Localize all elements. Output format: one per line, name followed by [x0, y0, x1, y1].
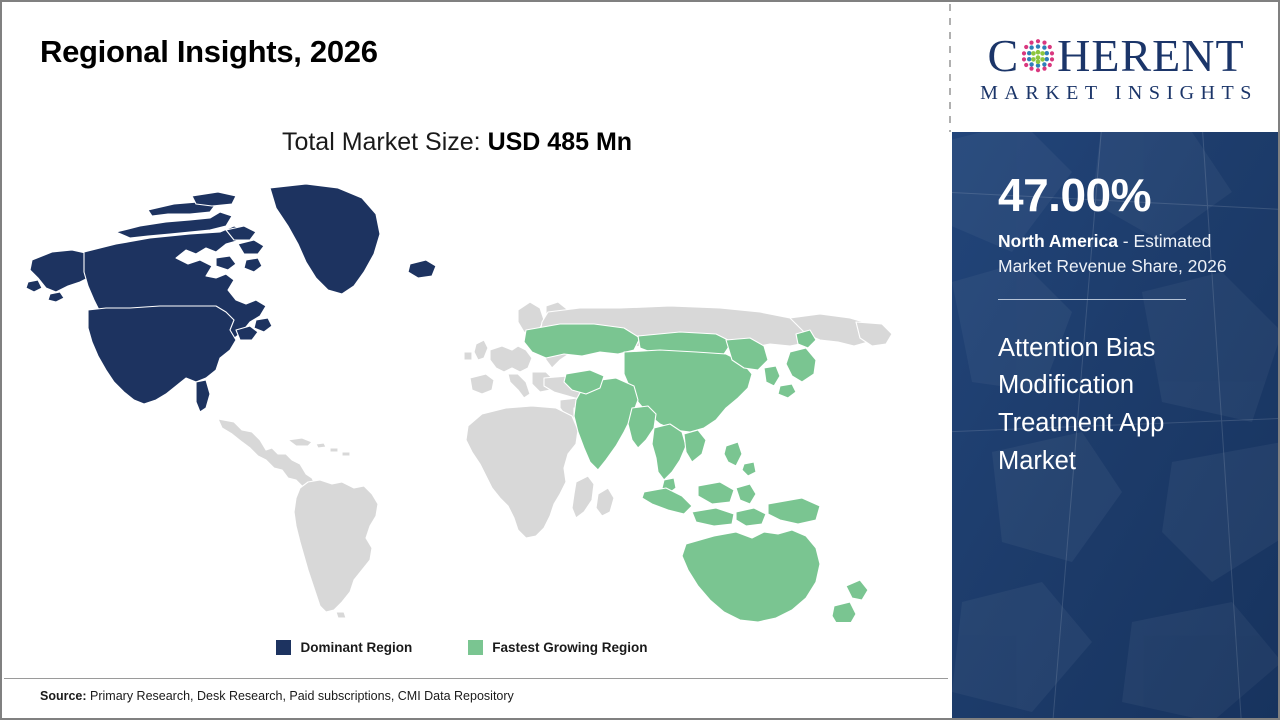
legend-item-fastest-growing: Fastest Growing Region: [468, 640, 647, 655]
logo-letter-c: C: [987, 33, 1019, 79]
page-title: Regional Insights, 2026: [40, 34, 378, 70]
left-content-area: Regional Insights, 2026 Total Market Siz…: [2, 2, 950, 718]
legend-label-fastest-growing: Fastest Growing Region: [492, 640, 647, 655]
map-legend: Dominant Region Fastest Growing Region: [2, 640, 922, 655]
market-title: Attention Bias Modification Treatment Ap…: [998, 330, 1242, 481]
fastest-growing-region-swatch: [468, 640, 483, 655]
source-text: Primary Research, Desk Research, Paid su…: [87, 689, 514, 703]
slide-root: Regional Insights, 2026 Total Market Siz…: [0, 0, 1280, 720]
map-region-asia-pacific: [524, 324, 868, 622]
panel-content: 47.00% North America - Estimated Market …: [952, 132, 1280, 720]
world-map-svg: [20, 182, 930, 622]
source-note: Source: Primary Research, Desk Research,…: [40, 689, 514, 703]
world-map: [20, 182, 930, 622]
market-size-label: Total Market Size:: [282, 128, 481, 156]
panel-divider: [998, 299, 1186, 300]
globe-dots-icon: [1020, 35, 1056, 81]
brand-logo: C: [952, 4, 1280, 132]
legend-item-dominant: Dominant Region: [276, 640, 412, 655]
logo-wordmark-rest: HERENT: [1057, 33, 1244, 79]
market-size-value: USD 485 Mn: [488, 128, 632, 156]
source-label: Source:: [40, 689, 87, 703]
dominant-region-swatch: [276, 640, 291, 655]
total-market-size: Total Market Size: USD 485 Mn: [2, 128, 912, 157]
logo-wordmark: C: [987, 33, 1244, 79]
revenue-share-description: North America - Estimated Market Revenue…: [998, 229, 1248, 279]
source-divider: [4, 678, 948, 679]
regional-highlight-panel: 47.00% North America - Estimated Market …: [952, 132, 1280, 720]
logo-tagline: MARKET INSIGHTS: [974, 83, 1258, 103]
map-region-north-america: [26, 184, 436, 412]
region-name: North America: [998, 231, 1118, 251]
revenue-share-percent: 47.00%: [998, 172, 1248, 218]
legend-label-dominant: Dominant Region: [300, 640, 412, 655]
vertical-dashed-divider: [949, 4, 951, 132]
